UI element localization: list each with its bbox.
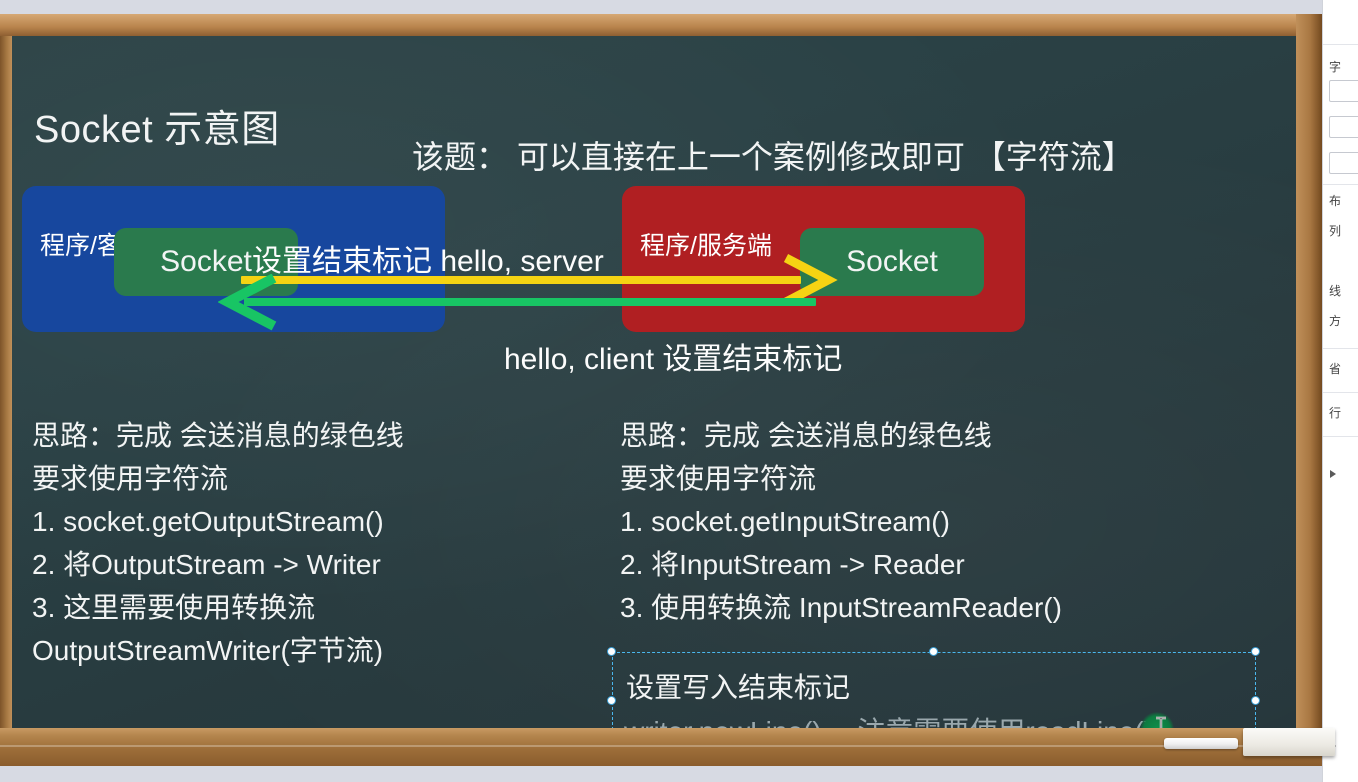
page-subtitle: 该题： 可以直接在上一个案例修改即可 【字符流】 — [412, 132, 1134, 178]
incoming-arrow-label: hello, client 设置结束标记 — [504, 334, 842, 378]
incoming-arrow-head-icon — [218, 274, 280, 332]
board-eraser-icon[interactable] — [1243, 728, 1335, 756]
blackboard-surface[interactable]: Socket 示意图 该题： 可以直接在上一个案例修改即可 【字符流】 程序/客… — [12, 36, 1296, 728]
resize-handle-w[interactable] — [607, 696, 616, 705]
server-box-label: 程序/服务端 — [640, 226, 772, 262]
chalk-tray-highlight — [0, 745, 1322, 747]
chalk-stick-icon[interactable] — [1164, 738, 1238, 749]
panel-divider-2 — [1323, 184, 1358, 185]
panel-field-2[interactable] — [1329, 152, 1358, 174]
expand-triangle-icon[interactable] — [1330, 470, 1336, 478]
selected-textbox-line1: 设置写入结束标记 — [626, 666, 850, 706]
panel-label-2[interactable]: 列 — [1329, 222, 1358, 239]
frame-edge-left — [0, 14, 12, 766]
panel-label-0: 字 — [1329, 58, 1358, 75]
resize-handle-ne[interactable] — [1251, 647, 1260, 656]
panel-divider-5 — [1323, 436, 1358, 437]
frame-edge-top — [0, 14, 1316, 36]
panel-label-3[interactable]: 线 — [1329, 282, 1358, 299]
panel-field-0[interactable] — [1329, 80, 1358, 102]
panel-divider — [1323, 44, 1358, 45]
server-notes-block[interactable]: 思路：完成 会送消息的绿色线 要求使用字符流 1. socket.getInpu… — [620, 414, 1062, 629]
chalk-tray — [0, 728, 1322, 766]
panel-divider-4 — [1323, 392, 1358, 393]
outgoing-arrow-label: 设置结束标记 hello, server — [252, 236, 604, 280]
panel-field-1[interactable] — [1329, 116, 1358, 138]
selected-textbox-line2: writer.newLine() ，注意需要使用readLine() — [624, 710, 1153, 728]
screen-root: 字 布 列 线 方 省 行 Socket 示意图 该题： 可以直接在上一个案例修… — [0, 0, 1358, 782]
resize-handle-e[interactable] — [1251, 696, 1260, 705]
resize-handle-n[interactable] — [929, 647, 938, 656]
client-notes-block[interactable]: 思路：完成 会送消息的绿色线 要求使用字符流 1. socket.getOutp… — [32, 414, 404, 672]
properties-side-panel[interactable]: 字 布 列 线 方 省 行 — [1322, 0, 1358, 782]
server-socket-label: Socket — [846, 245, 938, 279]
resize-handle-nw[interactable] — [607, 647, 616, 656]
panel-label-6[interactable]: 行 — [1329, 404, 1358, 421]
panel-label-5[interactable]: 省 — [1329, 360, 1358, 377]
frame-edge-right — [1296, 14, 1322, 766]
text-cursor-icon — [1154, 716, 1168, 728]
incoming-arrow-line — [244, 298, 816, 306]
panel-label-1[interactable]: 布 — [1329, 192, 1358, 209]
panel-divider-3 — [1323, 348, 1358, 349]
page-title: Socket 示意图 — [34, 98, 280, 153]
panel-label-4[interactable]: 方 — [1329, 312, 1358, 329]
